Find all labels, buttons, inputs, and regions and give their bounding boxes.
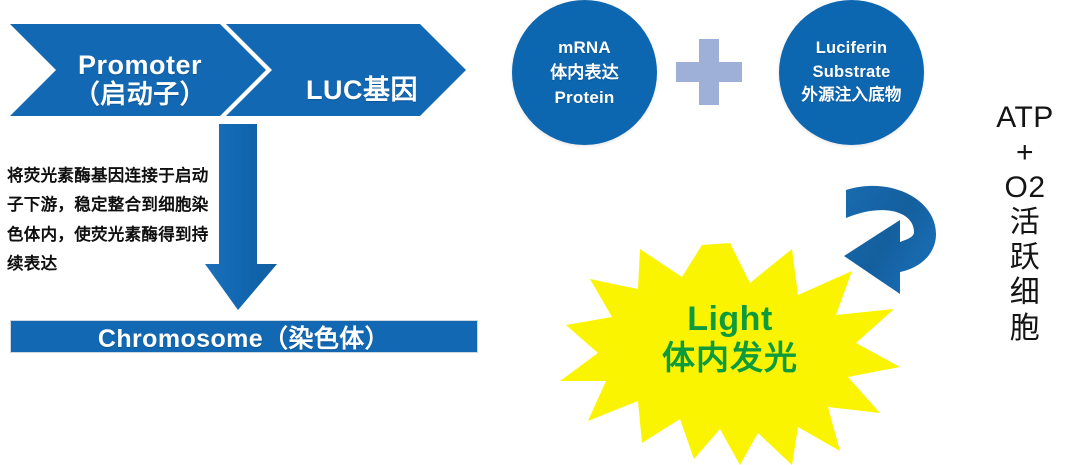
atp-note-line5: 跃 bbox=[985, 240, 1065, 275]
circle-luciferin-line2: Substrate bbox=[813, 61, 891, 84]
circle-luciferin-line1: Luciferin bbox=[816, 37, 887, 60]
chevron-shapes bbox=[10, 24, 466, 116]
chromosome-bar: Chromosome（染色体） bbox=[10, 320, 478, 353]
atp-note-line3: O2 bbox=[985, 170, 1065, 205]
plus-sign-shape bbox=[676, 39, 742, 105]
description-text: 将荧光素酶基因连接于启动子下游，稳定整合到细胞染色体内，使荧光素酶得到持续表达 bbox=[7, 162, 222, 279]
atp-note-line6: 细 bbox=[985, 275, 1065, 310]
atp-note-line4: 活 bbox=[985, 205, 1065, 240]
circle-mrna: mRNA 体内表达 Protein bbox=[512, 0, 657, 145]
diagram-canvas: Promoter （启动子） LUC基因 将荧光素酶基因连接于启动子下游，稳定整… bbox=[0, 0, 1080, 465]
circle-luciferin: Luciferin Substrate 外源注入底物 bbox=[779, 0, 924, 145]
starburst-shape bbox=[560, 243, 900, 465]
atp-note-line2: + bbox=[985, 135, 1065, 170]
atp-note-line1: ATP bbox=[985, 100, 1065, 135]
atp-note-line7: 胞 bbox=[985, 311, 1065, 346]
atp-note: ATP + O2 活 跃 细 胞 bbox=[985, 100, 1065, 346]
circle-mrna-line2: 体内表达 bbox=[550, 60, 619, 85]
circle-mrna-line1: mRNA bbox=[558, 35, 611, 60]
starburst-icon bbox=[560, 243, 900, 465]
chevron-segment-promoter bbox=[10, 24, 266, 116]
circle-luciferin-line3: 外源注入底物 bbox=[801, 84, 901, 107]
plus-sign-icon bbox=[676, 39, 742, 105]
chevron-process-bar: Promoter （启动子） LUC基因 bbox=[10, 24, 466, 116]
chromosome-bar-label: Chromosome（染色体） bbox=[98, 319, 390, 355]
down-arrow-icon bbox=[205, 124, 287, 310]
circle-mrna-line3: Protein bbox=[555, 85, 615, 110]
down-arrow-shape bbox=[205, 124, 277, 310]
